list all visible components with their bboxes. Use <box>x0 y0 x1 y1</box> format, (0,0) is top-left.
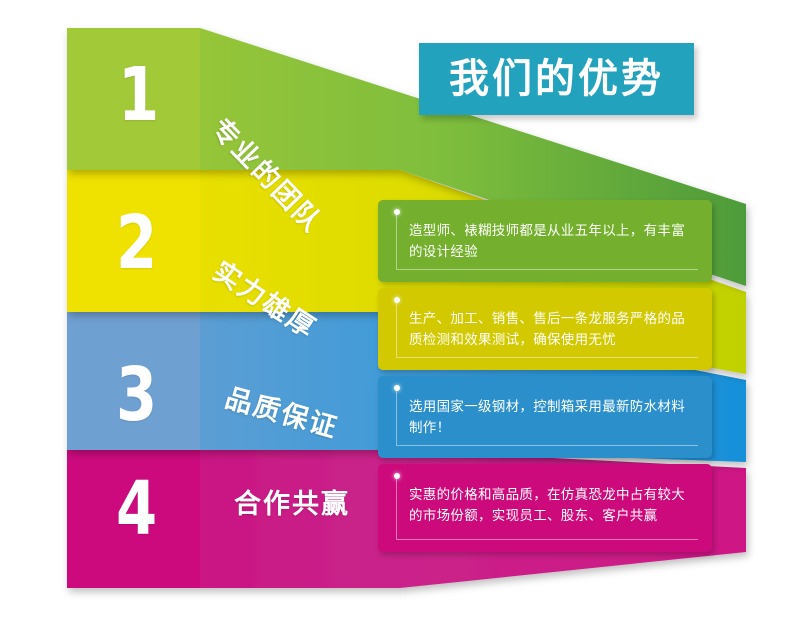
description-panel-2: 生产、加工、销售、售后一条龙服务严格的品质检测和效果测试，确保使用无忧 <box>378 288 712 370</box>
description-panel-4: 实惠的价格和高品质，在仿真恐龙中占有较大的市场份额，实现员工、股东、客户共赢 <box>378 464 712 552</box>
bullet-dot-icon <box>394 209 400 215</box>
page-title-banner: 我们的优势 <box>419 43 694 115</box>
number-block-1 <box>67 28 200 170</box>
bullet-dot-icon <box>394 297 400 303</box>
panel-frame-4: 实惠的价格和高品质，在仿真恐龙中占有较大的市场份额，实现员工、股东、客户共赢 <box>396 476 698 540</box>
description-text-3: 选用国家一级钢材，控制箱采用最新防水材料制作！ <box>409 397 694 439</box>
description-panel-3: 选用国家一级钢材，控制箱采用最新防水材料制作！ <box>378 376 712 458</box>
description-panel-1: 造型师、裱糊技师都是从业五年以上，有丰富的设计经验 <box>378 200 712 282</box>
number-block-3 <box>67 312 200 450</box>
description-text-1: 造型师、裱糊技师都是从业五年以上，有丰富的设计经验 <box>409 221 694 263</box>
number-block-4 <box>67 450 200 588</box>
panel-frame-3: 选用国家一级钢材，控制箱采用最新防水材料制作！ <box>396 388 698 446</box>
infographic-canvas: 1 2 3 4 专业的团队 实力雄厚 品质保证 合作共赢 造型师、裱糊技师都是从… <box>0 0 800 622</box>
description-text-2: 生产、加工、销售、售后一条龙服务严格的品质检测和效果测试，确保使用无忧 <box>409 309 694 351</box>
bullet-dot-icon <box>394 473 400 479</box>
page-title: 我们的优势 <box>449 59 664 99</box>
bullet-dot-icon <box>394 385 400 391</box>
panel-frame-2: 生产、加工、销售、售后一条龙服务严格的品质检测和效果测试，确保使用无忧 <box>396 300 698 358</box>
panel-frame-1: 造型师、裱糊技师都是从业五年以上，有丰富的设计经验 <box>396 212 698 270</box>
description-text-4: 实惠的价格和高品质，在仿真恐龙中占有较大的市场份额，实现员工、股东、客户共赢 <box>409 485 694 527</box>
number-block-2 <box>67 170 200 312</box>
